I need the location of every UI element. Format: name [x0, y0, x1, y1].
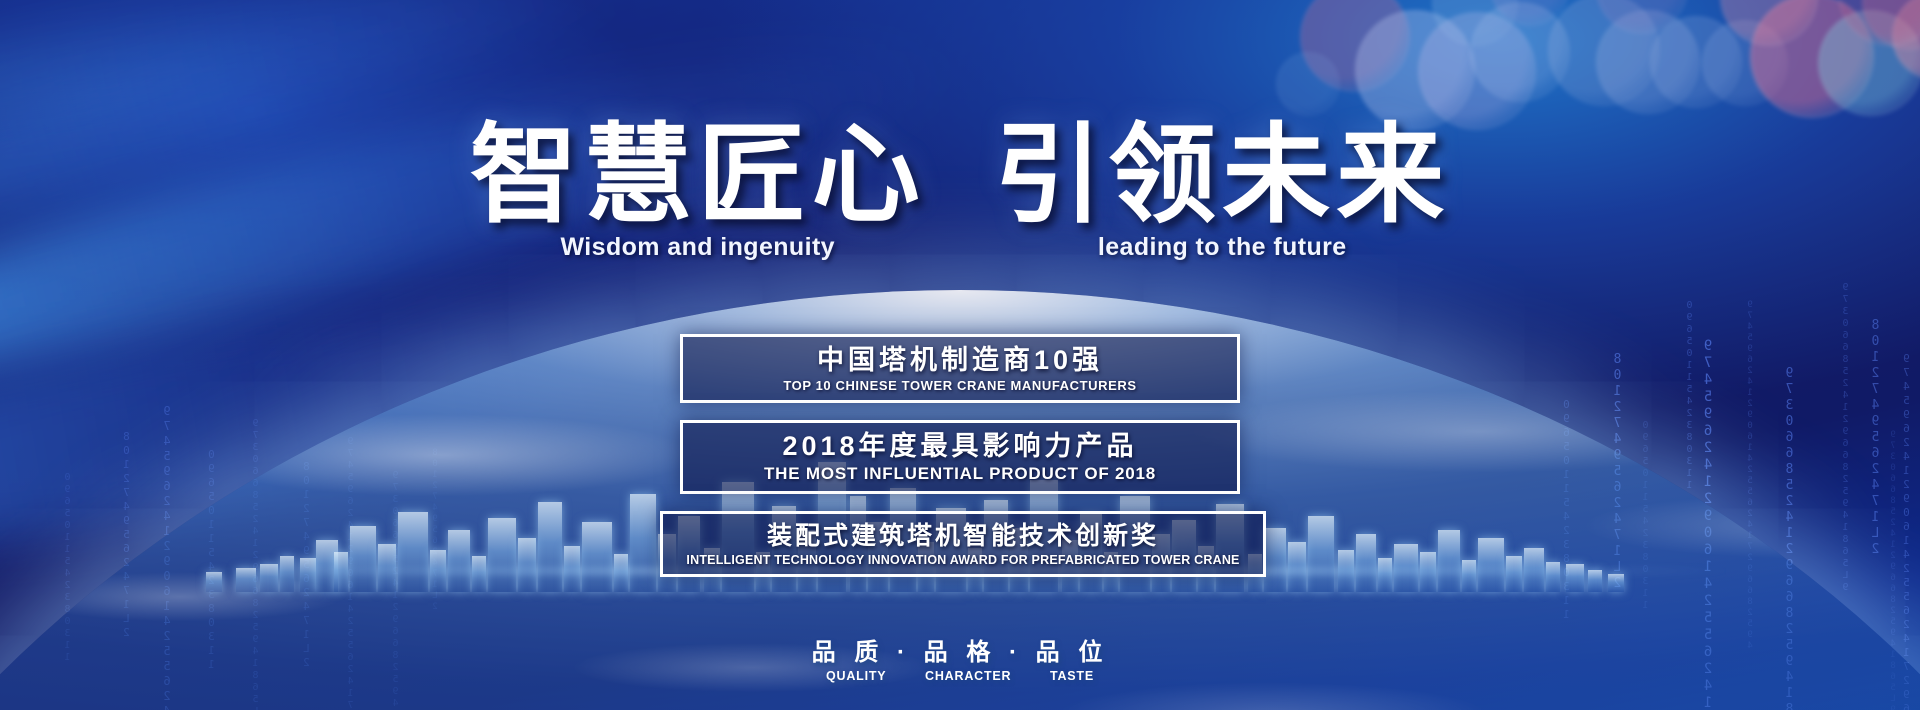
- award-item: 装配式建筑塔机智能技术创新奖 INTELLIGENT TECHNOLOGY IN…: [660, 511, 1266, 577]
- award-title-cn: 中国塔机制造商10强: [683, 345, 1237, 375]
- headline-group-right: 引领未来 leading to the future: [994, 118, 1450, 262]
- promotional-banner: 8012749562471L29745962412906142556241729…: [0, 0, 1920, 710]
- headline-en-right: leading to the future: [994, 233, 1450, 262]
- tagline-cn: 品 质 · 品 格 · 品 位: [0, 632, 1920, 667]
- headline-cn-right: 引领未来: [994, 118, 1450, 231]
- award-item: 2018年度最具影响力产品 THE MOST INFLUENTIAL PRODU…: [680, 420, 1240, 494]
- award-title-en: TOP 10 CHINESE TOWER CRANE MANUFACTURERS: [683, 378, 1237, 393]
- tagline-en-character: CHARACTER: [925, 669, 1011, 683]
- tagline-en-taste: TASTE: [1050, 669, 1094, 683]
- banner-content: 智慧匠心 Wisdom and ingenuity 引领未来 leading t…: [0, 0, 1920, 710]
- tagline: 品 质 · 品 格 · 品 位 QUALITY CHARACTER TASTE: [0, 632, 1920, 683]
- headline-group-left: 智慧匠心 Wisdom and ingenuity: [470, 118, 926, 262]
- award-title-cn: 2018年度最具影响力产品: [683, 431, 1237, 461]
- headline-cn-left: 智慧匠心: [470, 118, 926, 231]
- headline: 智慧匠心 Wisdom and ingenuity 引领未来 leading t…: [0, 118, 1920, 262]
- award-title-cn: 装配式建筑塔机智能技术创新奖: [663, 522, 1263, 550]
- tagline-en: QUALITY CHARACTER TASTE: [0, 669, 1920, 683]
- award-item: 中国塔机制造商10强 TOP 10 CHINESE TOWER CRANE MA…: [680, 334, 1240, 403]
- tagline-en-quality: QUALITY: [826, 669, 886, 683]
- award-title-en: THE MOST INFLUENTIAL PRODUCT OF 2018: [683, 464, 1237, 484]
- award-title-en: INTELLIGENT TECHNOLOGY INNOVATION AWARD …: [663, 553, 1263, 567]
- award-list: 中国塔机制造商10强 TOP 10 CHINESE TOWER CRANE MA…: [680, 334, 1240, 577]
- headline-en-left: Wisdom and ingenuity: [470, 233, 926, 262]
